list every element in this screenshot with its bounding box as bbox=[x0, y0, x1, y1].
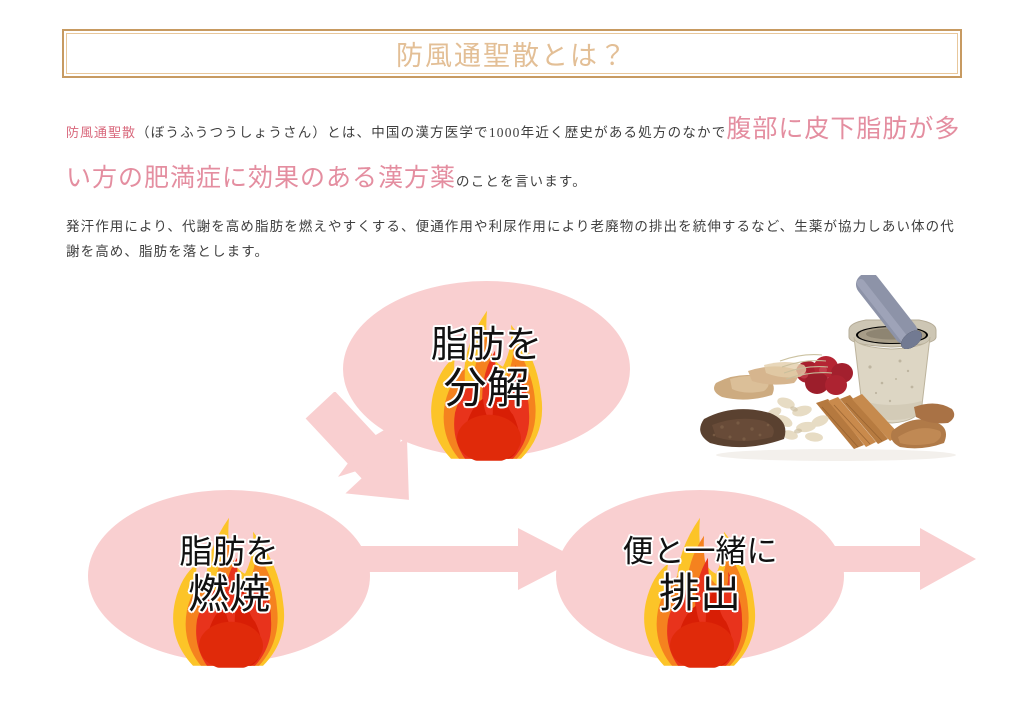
step-bubble-excrete: 便と一緒に 排出 bbox=[556, 490, 844, 662]
flame-icon bbox=[163, 498, 295, 668]
body-copy: 防風通聖散（ぼうふうつうしょうさん）とは、中国の漢方医学で1000年近く歴史があ… bbox=[66, 107, 966, 264]
lead-paragraph: 防風通聖散（ぼうふうつうしょうさん）とは、中国の漢方医学で1000年近く歴史があ… bbox=[66, 107, 966, 205]
arrow-right-middle bbox=[358, 528, 578, 590]
detail-paragraph: 発汗作用により、代謝を高め脂肪を燃えやすくする、便通作用や利尿作用により老廃物の… bbox=[66, 214, 961, 264]
step-bubble-decompose: 脂肪を 分解 bbox=[343, 281, 630, 457]
lead-segment-reading: （ぼうふうつうしょうさん）とは、中国の漢方医学で1000年近く歴史がある処方のな… bbox=[136, 125, 726, 140]
step-bubble-burn: 脂肪を 燃焼 bbox=[88, 490, 370, 662]
mortar-and-pestle-with-herbs-photo bbox=[686, 275, 968, 463]
page-title: 防風通聖散とは？ bbox=[396, 34, 628, 73]
flame-icon bbox=[634, 498, 766, 668]
lead-segment-drug-name: 防風通聖散 bbox=[66, 125, 136, 140]
lead-segment-closing: のことを言います。 bbox=[456, 174, 587, 189]
process-diagram: 脂肪を 分解 脂肪を 燃焼 bbox=[0, 262, 1024, 682]
flame-icon bbox=[421, 291, 553, 461]
arrow-right-end bbox=[828, 528, 976, 590]
page-title-frame: 防風通聖散とは？ bbox=[62, 29, 962, 78]
